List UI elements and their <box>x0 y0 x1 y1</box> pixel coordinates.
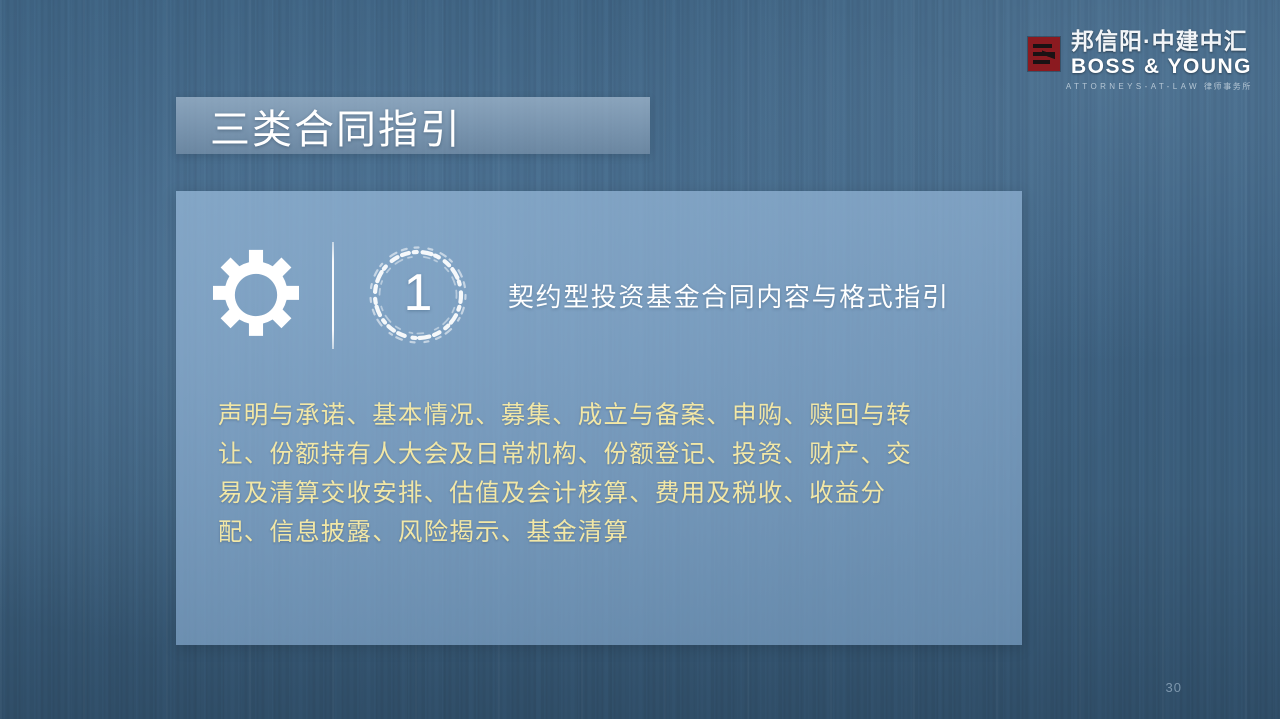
body-line: 易及清算交收安排、估值及会计核算、费用及税收、收益分 <box>218 474 980 513</box>
logo-tagline-en: ATTORNEYS-AT-LAW <box>1066 82 1200 91</box>
body-line: 让、份额持有人大会及日常机构、份额登记、投资、财产、交 <box>218 435 980 474</box>
vertical-divider <box>332 242 334 349</box>
slide-title-banner: 三类合同指引 <box>176 97 650 154</box>
logo-tagline: ATTORNEYS-AT-LAW律师事务所 <box>1066 83 1252 91</box>
number-badge: 1 <box>366 243 470 347</box>
logo-emblem-icon <box>1028 37 1060 71</box>
item-header-row: 1 契约型投资基金合同内容与格式指引 <box>176 239 1022 351</box>
logo-tagline-cn: 律师事务所 <box>1204 82 1252 91</box>
logo-name-en: BOSS & YOUNG <box>1071 56 1252 77</box>
item-body-text: 声明与承诺、基本情况、募集、成立与备案、申购、赎回与转 让、份额持有人大会及日常… <box>218 396 980 552</box>
page-number: 30 <box>1166 680 1182 695</box>
logo-name-cn: 邦信阳·中建中汇 <box>1071 30 1252 53</box>
gear-icon <box>206 248 306 342</box>
presentation-slide: 邦信阳·中建中汇 BOSS & YOUNG ATTORNEYS-AT-LAW律师… <box>0 0 1280 719</box>
item-number: 1 <box>404 267 433 319</box>
firm-logo: 邦信阳·中建中汇 BOSS & YOUNG ATTORNEYS-AT-LAW律师… <box>1028 30 1252 91</box>
body-line: 声明与承诺、基本情况、募集、成立与备案、申购、赎回与转 <box>218 396 980 435</box>
content-panel: 1 契约型投资基金合同内容与格式指引 声明与承诺、基本情况、募集、成立与备案、申… <box>176 191 1022 645</box>
page-title: 三类合同指引 <box>210 97 462 155</box>
item-heading: 契约型投资基金合同内容与格式指引 <box>508 277 950 314</box>
body-line: 配、信息披露、风险揭示、基金清算 <box>218 513 980 552</box>
logo-wordmark: 邦信阳·中建中汇 BOSS & YOUNG <box>1071 30 1252 77</box>
logo-main-row: 邦信阳·中建中汇 BOSS & YOUNG <box>1028 30 1252 77</box>
